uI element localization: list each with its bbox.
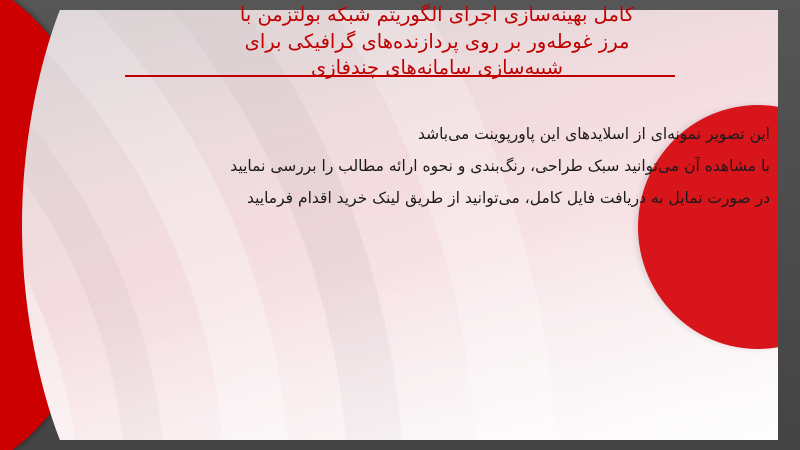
body-line-3: در صورت تمایل به دریافت فایل کامل، می‌تو…	[120, 182, 770, 214]
title-divider-rule	[125, 75, 675, 77]
slide-body-text: این تصویر نمونه‌ای از اسلایدهای این پاور…	[120, 118, 770, 214]
body-line-1: این تصویر نمونه‌ای از اسلایدهای این پاور…	[120, 118, 770, 150]
slide-canvas: کامل بهینه‌سازی اجرای الگوریتم شبکه بولت…	[0, 0, 800, 450]
body-line-2: با مشاهده آن می‌توانید سبک طراحی، رنگ‌بن…	[120, 150, 770, 182]
slide-title: کامل بهینه‌سازی اجرای الگوریتم شبکه بولت…	[100, 2, 774, 82]
